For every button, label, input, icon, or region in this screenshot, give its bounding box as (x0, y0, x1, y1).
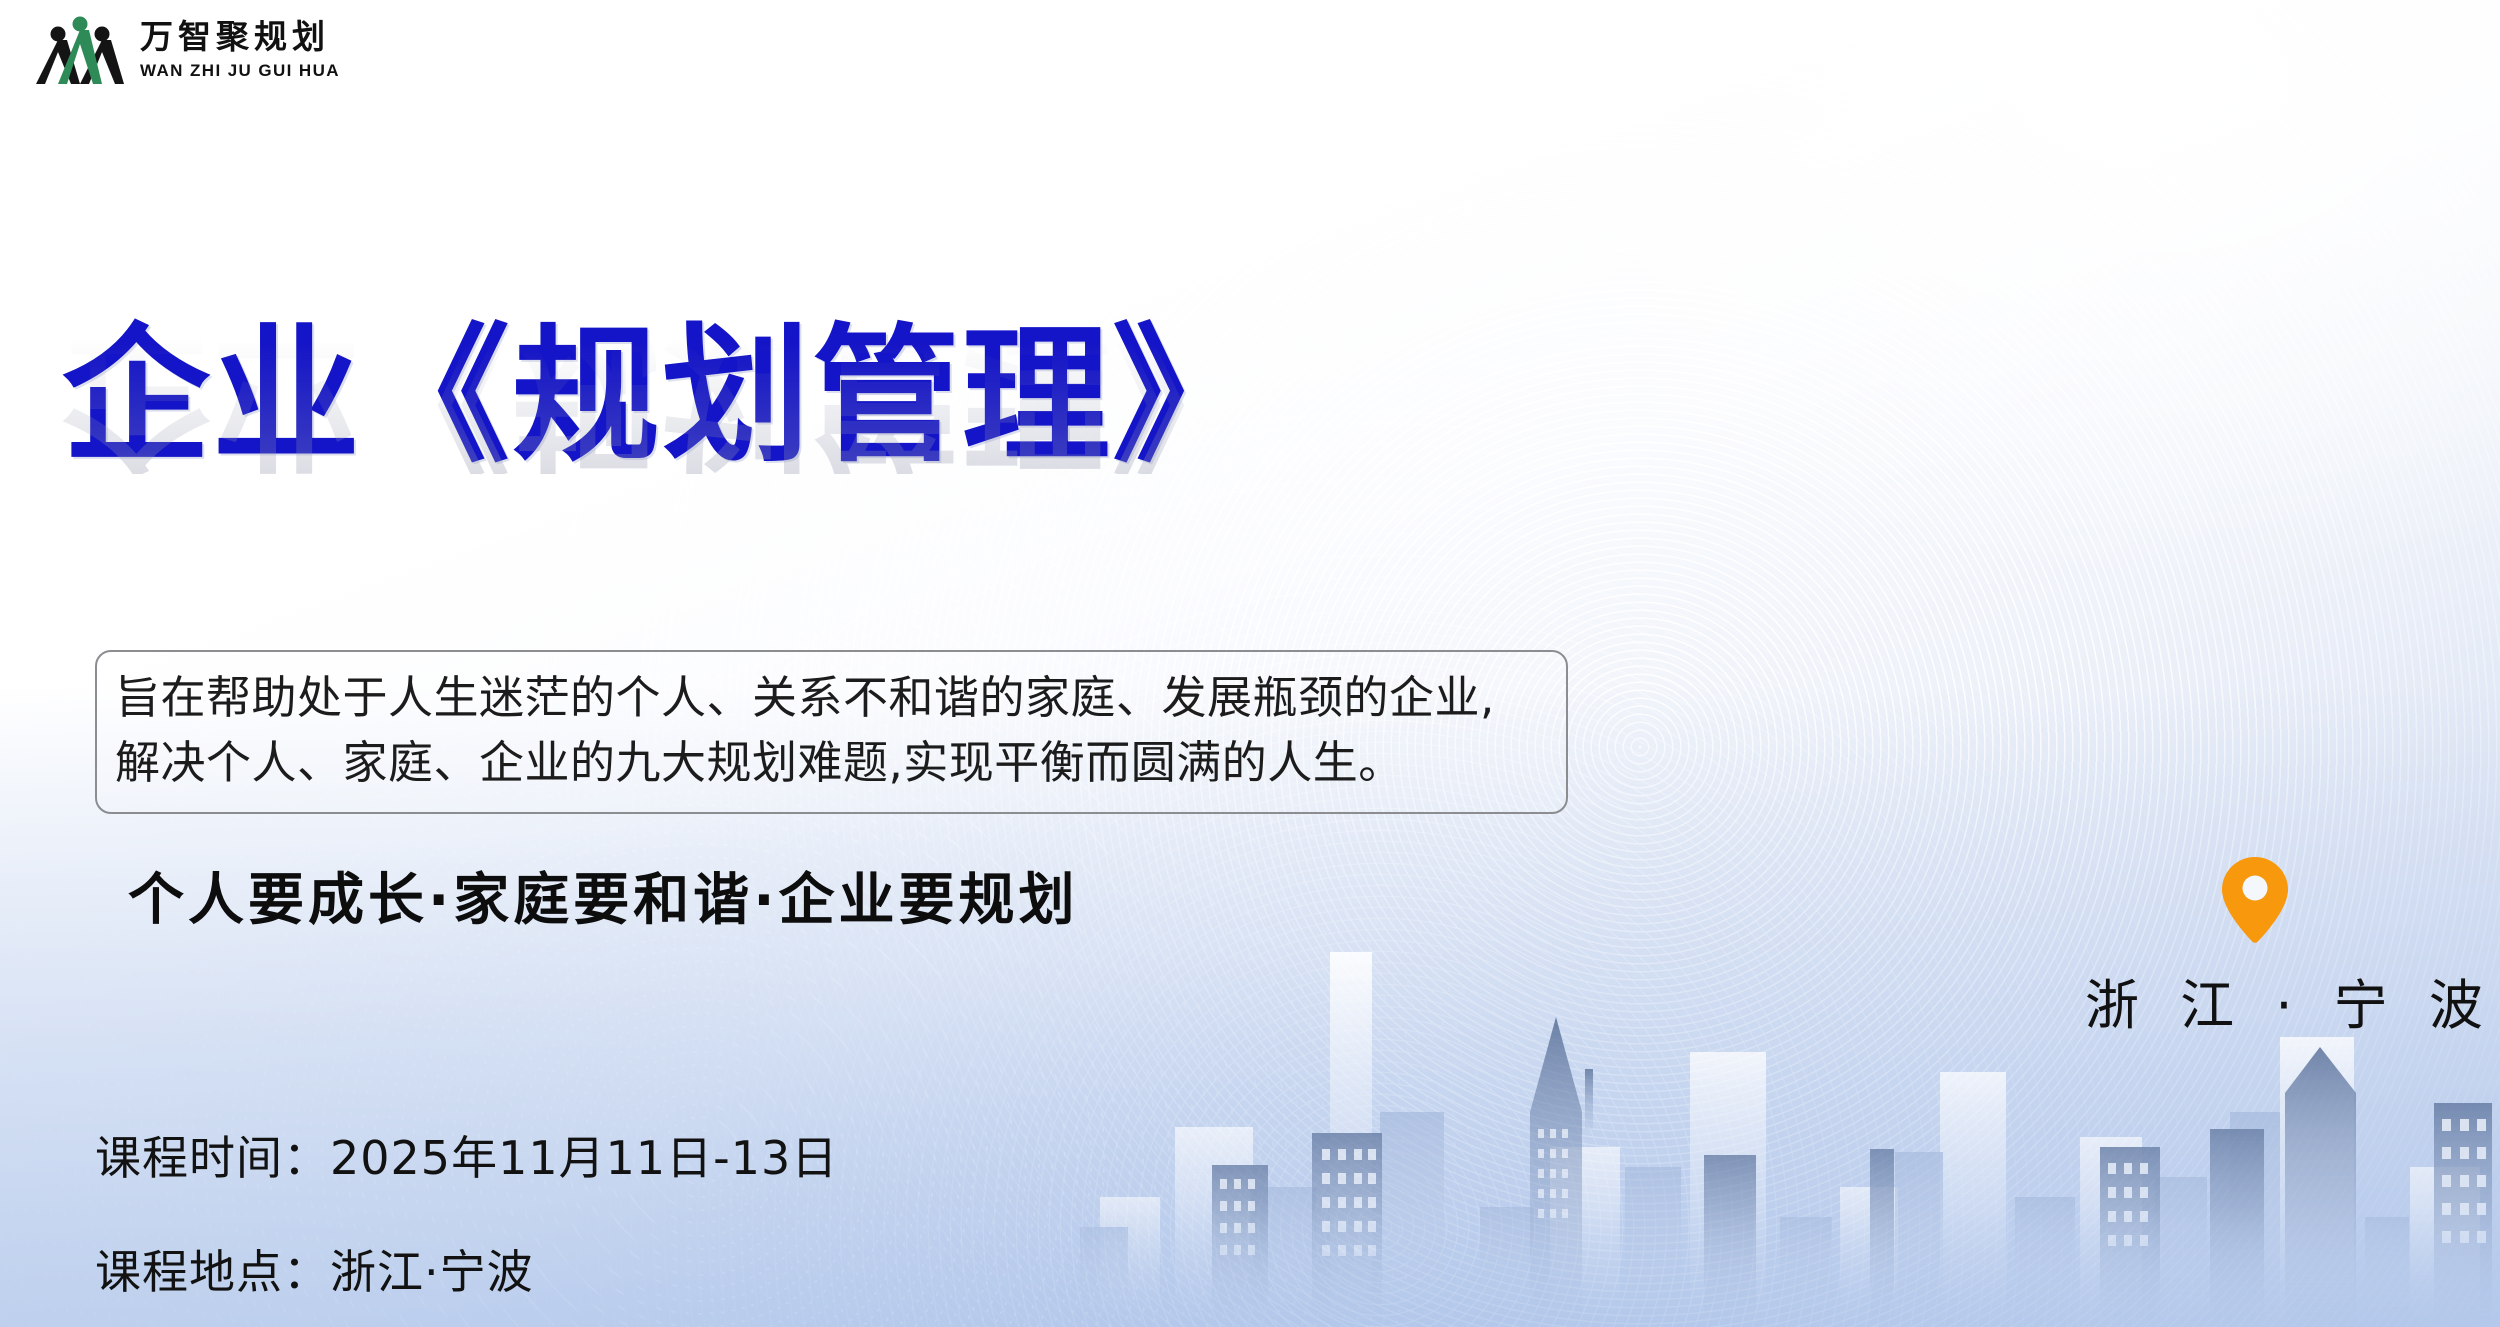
location-pin-icon (2217, 855, 2293, 947)
course-place: 课程地点：浙江·宁波 (95, 1236, 838, 1302)
course-time: 课程时间：2025年11月11日-13日 (95, 1122, 838, 1188)
brand-name-en: WAN ZHI JU GUI HUA (140, 62, 340, 79)
course-info: 课程时间：2025年11月11日-13日 课程地点：浙江·宁波 (95, 1122, 838, 1302)
description-line-2: 解决个人、家庭、企业的九大规划难题,实现平衡而圆满的人生。 (115, 731, 1548, 796)
location-name: 浙 江 · 宁 波 (2085, 961, 2425, 1040)
location-badge: 浙 江 · 宁 波 (2085, 855, 2425, 1040)
hero-title-block: 企业《规划管理》 企业《规划管理》 (62, 322, 1662, 622)
brand-text: 万智聚规划 WAN ZHI JU GUI HUA (140, 22, 340, 79)
brand-name-cn: 万智聚规划 (140, 22, 340, 55)
page-title: 企业《规划管理》 (62, 322, 1662, 470)
three-people-logo-icon (34, 14, 126, 86)
brand-logo: 万智聚规划 WAN ZHI JU GUI HUA (34, 14, 340, 86)
description-line-1: 旨在帮助处于人生迷茫的个人、关系不和谐的家庭、发展瓶颈的企业, (115, 666, 1548, 731)
poster-canvas: 万智聚规划 WAN ZHI JU GUI HUA 企业《规划管理》 企业《规划管… (0, 0, 2500, 1327)
description-box: 旨在帮助处于人生迷茫的个人、关系不和谐的家庭、发展瓶颈的企业, 解决个人、家庭、… (95, 650, 1568, 814)
hero-tagline: 个人要成长·家庭要和谐·企业要规划 (128, 855, 1079, 936)
